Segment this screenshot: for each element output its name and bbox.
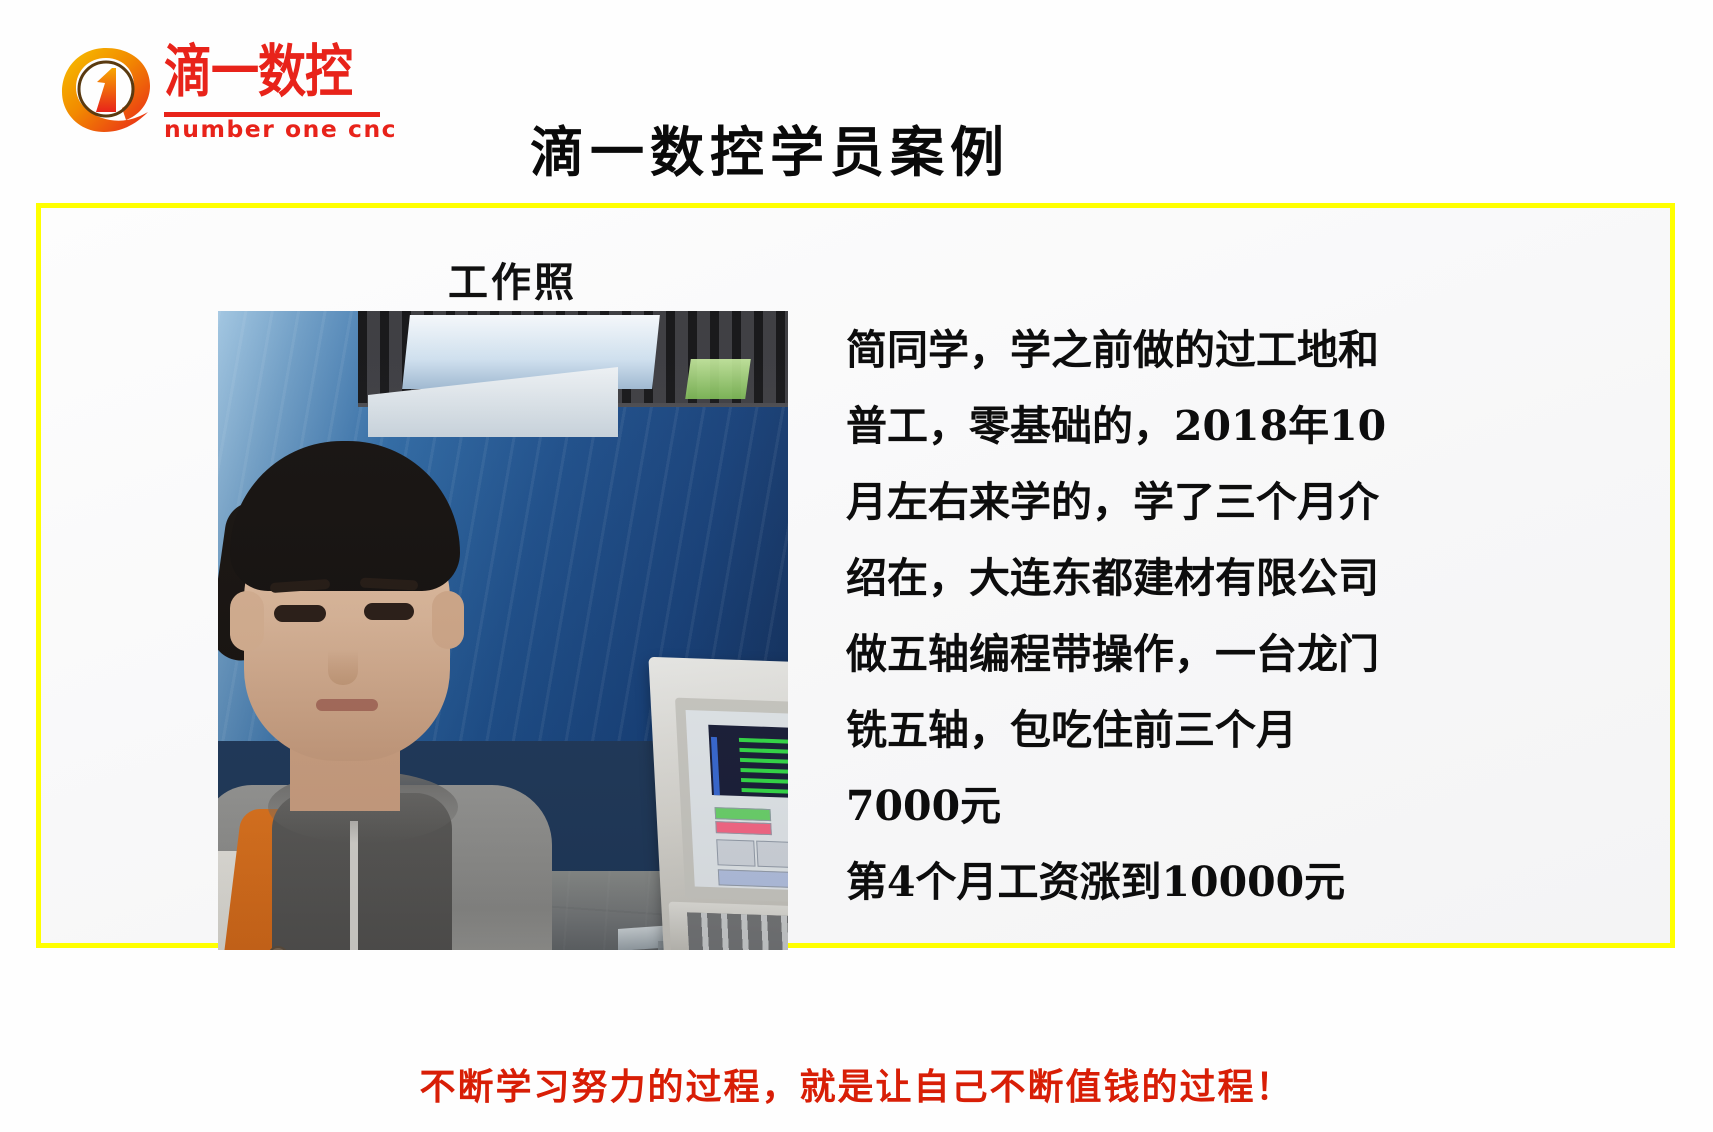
photo-green-object bbox=[685, 359, 751, 399]
person-eye-right bbox=[364, 603, 414, 620]
page-title: 滴一数控学员案例 bbox=[460, 108, 1080, 187]
number-one-swirl-icon bbox=[56, 42, 156, 138]
person-mouth bbox=[316, 699, 378, 711]
brand-wordmark: 滴一数控 number one cnc bbox=[164, 38, 386, 138]
student-story: 简同学，学之前做的过工地和 普工，零基础的，2018年10 月左右来学的，学了三… bbox=[846, 312, 1526, 920]
slide-canvas: 滴一数控 number one cnc 滴一数控学员案例 工作照 bbox=[0, 0, 1713, 1132]
cnc-control-screen bbox=[686, 710, 788, 896]
story-line: 铣五轴，包吃住前三个月 bbox=[846, 692, 1526, 768]
story-line: 绍在，大连东都建材有限公司 bbox=[846, 540, 1526, 616]
story-line: 做五轴编程带操作，一台龙门 bbox=[846, 616, 1526, 692]
story-line: 7000元 bbox=[846, 768, 1526, 844]
person-hair bbox=[230, 441, 460, 591]
story-line: 月左右来学的，学了三个月介 bbox=[846, 464, 1526, 540]
cnc-keyboard-keys bbox=[687, 912, 788, 950]
story-line: 普工，零基础的，2018年10 bbox=[846, 388, 1526, 464]
brand-logo: 滴一数控 number one cnc bbox=[56, 38, 386, 143]
person-ear-right bbox=[432, 591, 464, 649]
photo-caption-label: 工作照 bbox=[448, 250, 577, 308]
story-line: 简同学，学之前做的过工地和 bbox=[846, 312, 1526, 388]
footer-slogan: 不断学习努力的过程，就是让自己不断值钱的过程！ bbox=[0, 1058, 1713, 1110]
person-nose bbox=[328, 627, 358, 685]
photo-person bbox=[218, 441, 542, 950]
work-photo bbox=[218, 311, 788, 950]
person-eye-left bbox=[274, 605, 326, 622]
brand-name-en: number one cnc bbox=[164, 117, 390, 143]
person-ear-left bbox=[230, 591, 264, 651]
story-line: 第4个月工资涨到10000元 bbox=[846, 844, 1526, 920]
brand-name-cn: 滴一数控 bbox=[164, 38, 386, 106]
